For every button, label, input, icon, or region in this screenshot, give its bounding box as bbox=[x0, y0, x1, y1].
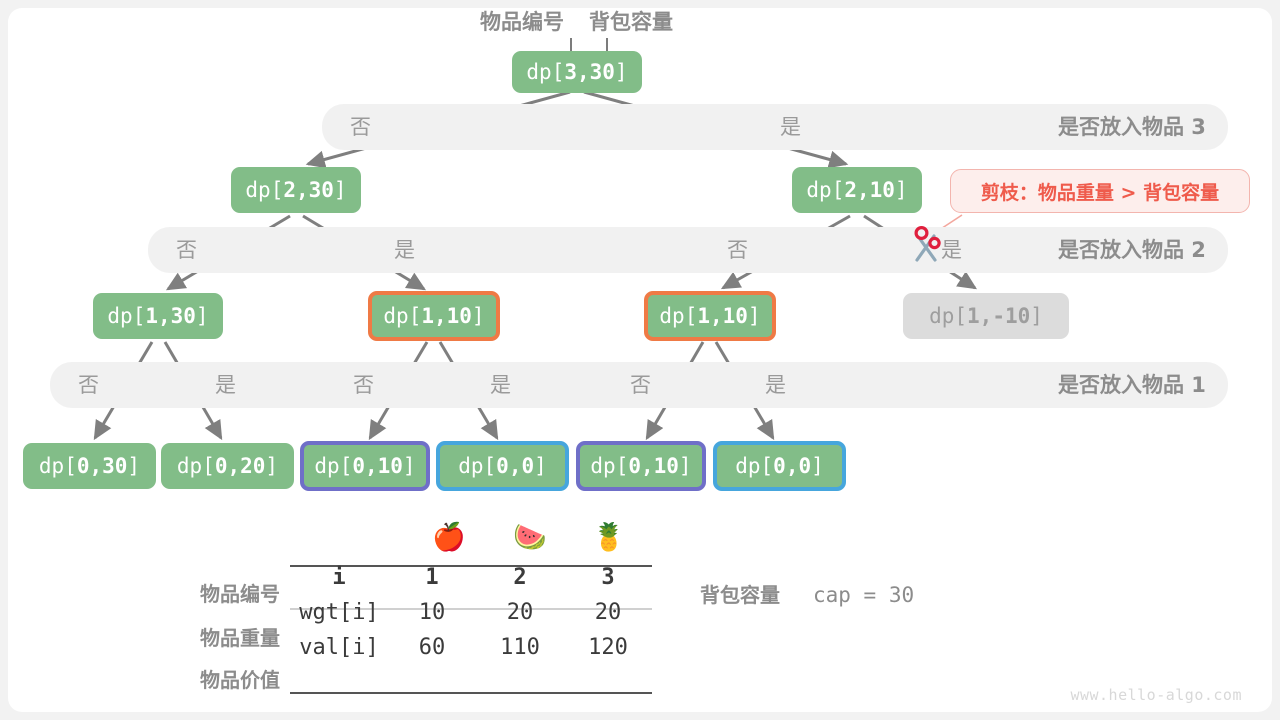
row-label-item-weight: 物品重量 bbox=[200, 622, 280, 651]
node-dp-1-10-left[interactable]: dp[1,10] bbox=[368, 291, 500, 341]
capacity-note-value: cap = 30 bbox=[813, 583, 914, 607]
node-text: dp[0,30] bbox=[39, 454, 140, 478]
node-text: dp[0,10] bbox=[314, 454, 415, 478]
pineapple-icon: 🍍 bbox=[592, 524, 626, 551]
band2-label-1: 是 bbox=[394, 240, 415, 261]
scissors-icon bbox=[907, 222, 947, 264]
band1-label-4: 否 bbox=[630, 375, 651, 396]
node-dp-1-10-right[interactable]: dp[1,10] bbox=[644, 291, 776, 341]
cell-value: 2 bbox=[476, 560, 564, 595]
band1-label-1: 是 bbox=[215, 375, 236, 396]
node-dp-2-30[interactable]: dp[2,30] bbox=[231, 167, 361, 213]
cell-key: wgt[i] bbox=[290, 595, 388, 630]
node-text: dp[0,20] bbox=[177, 454, 278, 478]
watermelon-icon: 🍉 bbox=[513, 524, 547, 551]
node-dp-1-30[interactable]: dp[1,30] bbox=[93, 293, 223, 339]
cell-value: 10 bbox=[388, 595, 476, 630]
node-dp-0-10-right[interactable]: dp[0,10] bbox=[576, 441, 706, 491]
node-dp-0-0-right[interactable]: dp[0,0] bbox=[713, 441, 846, 491]
node-dp-2-10[interactable]: dp[2,10] bbox=[792, 167, 922, 213]
band1-label-0: 否 bbox=[78, 375, 99, 396]
node-text: dp[2,30] bbox=[245, 178, 346, 202]
node-dp-1-neg10-pruned[interactable]: dp[1,-10] bbox=[903, 293, 1069, 339]
node-text: dp[0,0] bbox=[458, 454, 547, 478]
node-text: dp[2,10] bbox=[806, 178, 907, 202]
node-dp-0-0-left[interactable]: dp[0,0] bbox=[436, 441, 569, 491]
table-row-wgt: wgt[i] 10 20 20 bbox=[290, 595, 652, 630]
capacity-note: 背包容量 cap = 30 bbox=[700, 579, 914, 608]
node-text: dp[1,-10] bbox=[929, 304, 1043, 328]
band2-title: 是否放入物品 2 bbox=[1058, 240, 1206, 261]
node-text: dp[3,30] bbox=[526, 60, 627, 84]
watermark: www.hello-algo.com bbox=[1070, 686, 1242, 704]
capacity-note-label: 背包容量 bbox=[700, 583, 780, 607]
label-item-index: 物品编号 bbox=[480, 12, 564, 33]
band1-label-3: 是 bbox=[490, 375, 511, 396]
band1-label-2: 否 bbox=[353, 375, 374, 396]
node-text: dp[1,30] bbox=[107, 304, 208, 328]
node-text: dp[0,0] bbox=[735, 454, 824, 478]
prune-text: 剪枝：物品重量 > 背包容量 bbox=[981, 178, 1219, 205]
cell-value: 20 bbox=[476, 595, 564, 630]
cell-value: 3 bbox=[564, 560, 652, 595]
cell-value: 60 bbox=[388, 630, 476, 665]
band1-title: 是否放入物品 1 bbox=[1058, 375, 1206, 396]
cell-key: val[i] bbox=[290, 630, 388, 665]
row-label-item-index: 物品编号 bbox=[200, 578, 280, 607]
band3-yes-label: 是 bbox=[780, 117, 801, 138]
table-row-i: i 1 2 3 bbox=[290, 560, 652, 595]
node-dp-0-20[interactable]: dp[0,20] bbox=[161, 443, 294, 489]
apple-icon: 🍎 bbox=[432, 524, 466, 551]
table-row-val: val[i] 60 110 120 bbox=[290, 630, 652, 665]
band3-title: 是否放入物品 3 bbox=[1058, 117, 1206, 138]
node-text: dp[0,10] bbox=[590, 454, 691, 478]
cell-key: i bbox=[290, 560, 388, 595]
band1-label-5: 是 bbox=[765, 375, 786, 396]
items-table: i 1 2 3 wgt[i] 10 20 20 val[i] 60 110 12… bbox=[290, 560, 652, 665]
cell-value: 1 bbox=[388, 560, 476, 595]
cell-value: 110 bbox=[476, 630, 564, 665]
band2-label-2: 否 bbox=[727, 240, 748, 261]
band2-label-0: 否 bbox=[176, 240, 197, 261]
diagram-stage: 物品编号 背包容量 否 是 是否放入物品 3 否 是 否 是 是否放入物品 2 … bbox=[0, 0, 1280, 720]
node-text: dp[1,10] bbox=[383, 304, 484, 328]
node-dp-0-30[interactable]: dp[0,30] bbox=[23, 443, 156, 489]
prune-callout: 剪枝：物品重量 > 背包容量 bbox=[950, 169, 1250, 213]
cell-value: 120 bbox=[564, 630, 652, 665]
node-dp-0-10-left[interactable]: dp[0,10] bbox=[300, 441, 430, 491]
row-label-item-value: 物品价值 bbox=[200, 664, 280, 693]
node-dp-3-30[interactable]: dp[3,30] bbox=[512, 51, 642, 93]
node-text: dp[1,10] bbox=[659, 304, 760, 328]
cell-value: 20 bbox=[564, 595, 652, 630]
table-rule-bottom bbox=[290, 692, 652, 694]
table-row-labels: 物品编号 物品重量 物品价值 bbox=[170, 560, 280, 700]
band3-no-label: 否 bbox=[350, 117, 371, 138]
label-bag-capacity: 背包容量 bbox=[589, 12, 673, 33]
